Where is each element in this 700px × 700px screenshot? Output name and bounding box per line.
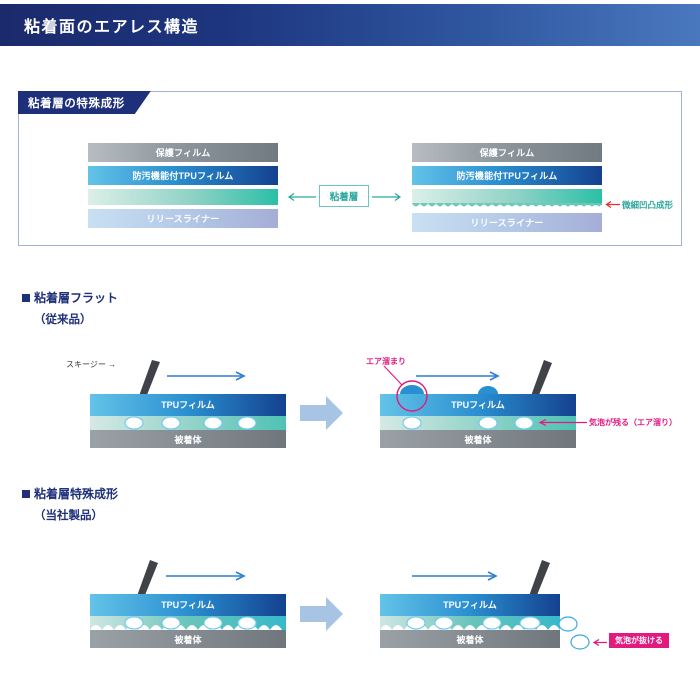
layer-label: リリースライナー: [147, 212, 220, 225]
layer-label: 保護フィルム: [156, 146, 211, 159]
figure-textured-after: TPUフィルム 被着体: [372, 552, 602, 657]
tpu-film-label: TPUフィルム: [443, 600, 497, 610]
surface-bump: [400, 385, 424, 394]
layer-stack-textured: 保護フィルム 防汚機能付TPUフィルム リリースライナー: [412, 143, 602, 236]
substrate-label: 被着体: [464, 434, 492, 445]
layer-adhesive-textured: [412, 189, 602, 205]
escaping-bubble: [520, 617, 540, 629]
section-textured-subheading: （当社製品）: [34, 507, 103, 523]
bubbles-remain-label: 気泡が残る（エア溜り）: [589, 417, 677, 428]
surface-bump: [478, 386, 498, 394]
escaping-bubble: [204, 617, 222, 629]
bullet-square-icon: [22, 490, 30, 498]
layer-label: リリースライナー: [471, 216, 544, 229]
layer-tpu-film: 防汚機能付TPUフィルム: [88, 166, 278, 185]
layer-adhesive-flat: [88, 189, 278, 205]
substrate-label: 被着体: [174, 634, 202, 645]
layer-label: 保護フィルム: [480, 146, 535, 159]
layer-label: 防汚機能付TPUフィルム: [456, 169, 557, 182]
arrow-right-to-stack: [371, 192, 405, 202]
layer-label: 防汚機能付TPUフィルム: [132, 169, 233, 182]
red-arrow-micro-texture: [604, 200, 621, 209]
escaping-bubble: [162, 617, 180, 629]
trapped-bubble: [204, 417, 222, 429]
trapped-bubble: [162, 417, 180, 429]
panel-tab-label: 粘着層の特殊成形: [28, 95, 125, 111]
adhesive-layer-callout: 粘着層: [319, 185, 369, 207]
transition-arrow-flat: [300, 395, 344, 431]
tpu-film-label: TPUフィルム: [161, 400, 215, 410]
layer-protective-film: 保護フィルム: [88, 143, 278, 162]
trapped-bubble: [515, 417, 533, 429]
section-textured-heading: 粘着層特殊成形: [22, 485, 118, 502]
trapped-bubble: [479, 417, 497, 429]
panel-tab: 粘着層の特殊成形: [18, 91, 151, 114]
trapped-bubble: [125, 417, 143, 429]
bubbles-escape-arrow: [592, 638, 608, 647]
escaping-bubble: [435, 617, 453, 629]
figure-flat-before: TPUフィルム 被着体: [82, 352, 294, 450]
layer-tpu-film: 防汚機能付TPUフィルム: [412, 166, 602, 185]
arrow-left-to-stack: [285, 192, 317, 202]
escaping-bubble: [483, 617, 501, 629]
trapped-bubble: [403, 417, 421, 429]
released-bubble: [571, 635, 589, 649]
layer-release-liner: リリースライナー: [88, 209, 278, 228]
air-pocket-label: エア溜まり: [366, 356, 406, 367]
adhesive-band: [90, 416, 286, 430]
bullet-square-icon: [22, 294, 30, 302]
escaping-bubble: [238, 617, 256, 629]
released-bubble: [559, 617, 577, 631]
poster-root: 粘着面のエアレス構造 粘着層の特殊成形 保護フィルム 防汚機能付TPUフィルム …: [0, 0, 700, 700]
bubbles-remain-leader: [536, 418, 588, 427]
layer-stack-flat: 保護フィルム 防汚機能付TPUフィルム リリースライナー: [88, 143, 278, 232]
bubbles-escape-label: 気泡が抜ける: [609, 633, 669, 648]
substrate-label: 被着体: [456, 634, 484, 645]
callout-leader-line: [384, 366, 402, 385]
substrate-label: 被着体: [174, 434, 202, 445]
tpu-film-label: TPUフィルム: [451, 400, 505, 410]
section-flat-subheading: （従来品）: [34, 311, 92, 327]
transition-arrow-textured: [300, 596, 344, 632]
escaping-bubble: [125, 617, 143, 629]
escaping-bubble: [407, 617, 425, 629]
page-title: 粘着面のエアレス構造: [24, 13, 199, 37]
page-header: 粘着面のエアレス構造: [0, 4, 700, 46]
tpu-film-label: TPUフィルム: [161, 600, 215, 610]
layer-release-liner: リリースライナー: [412, 213, 602, 232]
adhesive-layer-label: 粘着層: [330, 189, 359, 203]
trapped-bubble: [238, 417, 256, 429]
section-flat-heading: 粘着層フラット: [22, 289, 118, 306]
micro-texture-wave: [412, 203, 602, 211]
micro-texture-label: 微細凹凸成形: [622, 199, 673, 211]
layer-protective-film: 保護フィルム: [412, 143, 602, 162]
figure-textured-before: TPUフィルム 被着体: [82, 552, 294, 650]
